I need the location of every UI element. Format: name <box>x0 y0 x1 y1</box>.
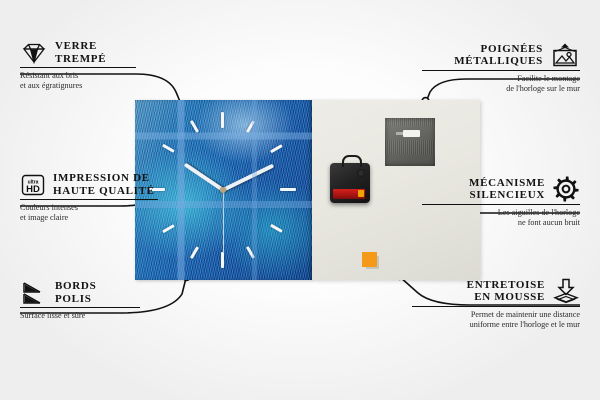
battery <box>333 189 365 199</box>
ultra-hd-icon: ultra HD <box>20 173 46 197</box>
callout-impression-title: IMPRESSION DE HAUTE QUALITÉ <box>53 172 155 197</box>
callout-verre-trempe-title: VERRE TREMPÉ <box>55 40 106 65</box>
callout-poignees-sub1: Facilite le montage <box>390 74 580 84</box>
callout-verre-trempe-head: VERRE TREMPÉ <box>20 40 180 65</box>
hour-marker-3 <box>280 188 296 191</box>
callout-poignees: POIGNÉES MÉTALLIQUES Facilite le montage… <box>390 42 580 94</box>
second-hand <box>223 188 225 252</box>
clock-center-cap <box>220 187 226 193</box>
gear-icon <box>552 176 580 202</box>
callout-mecanisme-head: MÉCANISME SILENCIEUX <box>390 176 580 202</box>
callout-bords-polis: BORDS POLIS Surface lisse et sûre <box>20 280 190 321</box>
infographic-root: VERRE TREMPÉ Résistant aux bris et aux é… <box>0 0 600 400</box>
callout-verre-trempe-rule <box>20 67 136 68</box>
hour-marker-10 <box>162 144 175 153</box>
hour-marker-7 <box>190 246 199 259</box>
metal-hanger-plate <box>385 118 435 166</box>
hour-marker-11 <box>190 120 199 133</box>
hour-marker-2 <box>270 144 283 153</box>
callout-impression-head: ultra HD IMPRESSION DE HAUTE QUALITÉ <box>20 172 200 197</box>
callout-poignees-head: POIGNÉES MÉTALLIQUES <box>390 42 580 68</box>
callout-verre-trempe-sub1: Résistant aux bris <box>20 71 180 81</box>
callout-impression: ultra HD IMPRESSION DE HAUTE QUALITÉ Cou… <box>20 172 200 223</box>
hour-marker-6 <box>221 252 224 268</box>
callout-bords-polis-rule <box>20 307 140 308</box>
mechanism-hanging-loop <box>342 155 362 167</box>
callout-poignees-rule <box>422 70 580 71</box>
callout-mecanisme-sub1: Les aiguilles de l'horloge <box>390 208 580 218</box>
picture-frame-hook-icon <box>550 42 580 68</box>
callout-mecanisme-sub2: ne font aucun bruit <box>390 218 580 228</box>
callout-entretoise-rule <box>412 306 580 307</box>
callout-verre-trempe-sub2: et aux égratignures <box>20 81 180 91</box>
down-arrow-spacer-icon <box>552 278 580 304</box>
callout-bords-polis-title: BORDS POLIS <box>55 280 96 305</box>
callout-entretoise: ENTRETOISE EN MOUSSE Permet de maintenir… <box>380 278 580 330</box>
hour-marker-8 <box>162 224 175 233</box>
foam-spacer <box>362 252 377 267</box>
callout-impression-rule <box>20 199 158 200</box>
callout-mecanisme-rule <box>422 204 580 205</box>
callout-impression-sub2: et image claire <box>20 213 200 223</box>
callout-entretoise-head: ENTRETOISE EN MOUSSE <box>380 278 580 304</box>
hour-marker-1 <box>246 120 255 133</box>
ultra-hd-icon-bottom-label: HD <box>26 184 40 195</box>
hour-marker-5 <box>246 246 255 259</box>
polished-edges-icon <box>20 281 48 305</box>
hanger-slot <box>403 130 420 137</box>
clock-mechanism <box>330 163 370 203</box>
mechanism-time-dial <box>357 169 365 177</box>
minute-hand <box>222 164 274 192</box>
callout-entretoise-title: ENTRETOISE EN MOUSSE <box>467 279 545 304</box>
callout-impression-sub1: Couleurs intenses <box>20 203 200 213</box>
diamond-icon <box>20 42 48 64</box>
callout-entretoise-sub1: Permet de maintenir une distance <box>380 310 580 320</box>
callout-mecanisme-title: MÉCANISME SILENCIEUX <box>469 177 545 202</box>
callout-mecanisme: MÉCANISME SILENCIEUX Les aiguille <box>390 176 580 228</box>
callout-entretoise-sub2: uniforme entre l'horloge et le mur <box>380 320 580 330</box>
callout-bords-polis-sub1: Surface lisse et sûre <box>20 311 190 321</box>
hour-marker-12 <box>221 112 224 128</box>
callout-verre-trempe: VERRE TREMPÉ Résistant aux bris et aux é… <box>20 40 180 91</box>
callout-poignees-title: POIGNÉES MÉTALLIQUES <box>454 43 543 68</box>
callout-bords-polis-head: BORDS POLIS <box>20 280 190 305</box>
callout-poignees-sub2: de l'horloge sur le mur <box>390 84 580 94</box>
hour-marker-4 <box>270 224 283 233</box>
